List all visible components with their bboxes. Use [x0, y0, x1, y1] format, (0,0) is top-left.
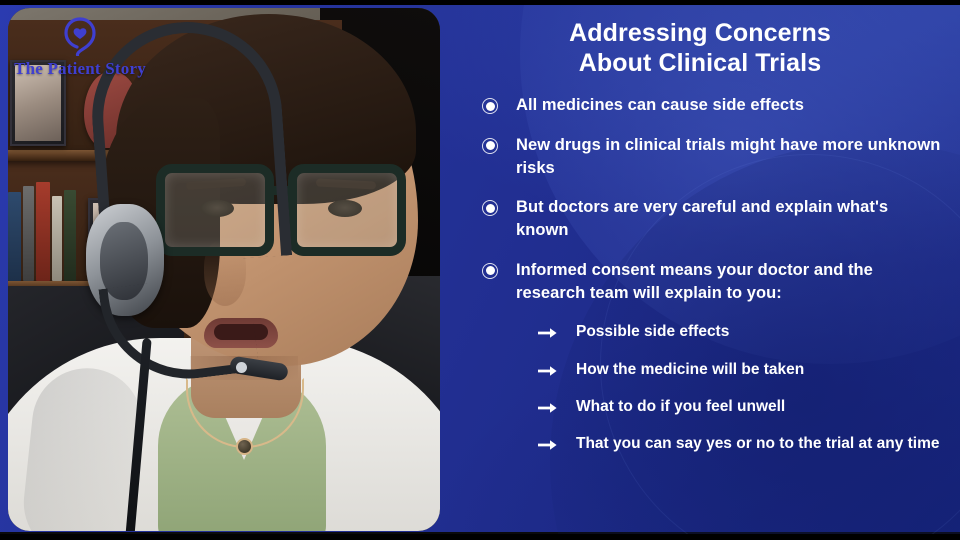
arrow-right-icon — [538, 322, 558, 342]
ring-dot-icon — [482, 200, 498, 216]
frame-border-top — [0, 0, 960, 5]
arrow-right-icon — [538, 434, 558, 454]
frame-border-bottom — [0, 534, 960, 540]
list-item: That you can say yes or no to the trial … — [538, 433, 944, 454]
ring-dot-icon — [482, 98, 498, 114]
list-item: But doctors are very careful and explain… — [482, 196, 944, 242]
eyeglass-lens-right — [288, 164, 406, 256]
speaker-figure — [8, 8, 440, 531]
slide-content: Addressing Concerns About Clinical Trial… — [448, 8, 952, 532]
necklace-pendant — [236, 438, 253, 455]
list-item: What to do if you feel unwell — [538, 396, 944, 417]
bullet-text: Informed consent means your doctor and t… — [516, 259, 944, 305]
video-scene — [8, 8, 440, 531]
list-item: Possible side effects — [538, 321, 944, 342]
arrow-right-icon — [538, 397, 558, 417]
sub-bullet-text: What to do if you feel unwell — [576, 396, 785, 417]
slide-title: Addressing Concerns About Clinical Trial… — [448, 18, 952, 78]
bullet-text: New drugs in clinical trials might have … — [516, 134, 944, 180]
headset-mic-indicator — [236, 362, 247, 373]
bullet-text: All medicines can cause side effects — [516, 94, 804, 117]
sub-bullet-list: Possible side effects How the medicine w… — [482, 321, 944, 455]
sub-bullet-text: That you can say yes or no to the trial … — [576, 433, 940, 454]
list-item: All medicines can cause side effects — [482, 94, 944, 117]
presentation-slide: The Patient Story Addressing Concerns Ab… — [0, 0, 960, 540]
slide-title-line-1: Addressing Concerns — [474, 18, 926, 48]
bullet-list: All medicines can cause side effects New… — [448, 94, 952, 455]
speaker-video-tile[interactable]: The Patient Story — [8, 8, 440, 531]
list-item: Informed consent means your doctor and t… — [482, 259, 944, 305]
slide-title-line-2: About Clinical Trials — [474, 48, 926, 78]
arrow-right-icon — [538, 360, 558, 380]
sub-bullet-text: How the medicine will be taken — [576, 359, 804, 380]
sub-bullet-text: Possible side effects — [576, 321, 729, 342]
ring-dot-icon — [482, 263, 498, 279]
ring-dot-icon — [482, 138, 498, 154]
list-item: How the medicine will be taken — [538, 359, 944, 380]
list-item: New drugs in clinical trials might have … — [482, 134, 944, 180]
bullet-text: But doctors are very careful and explain… — [516, 196, 944, 242]
